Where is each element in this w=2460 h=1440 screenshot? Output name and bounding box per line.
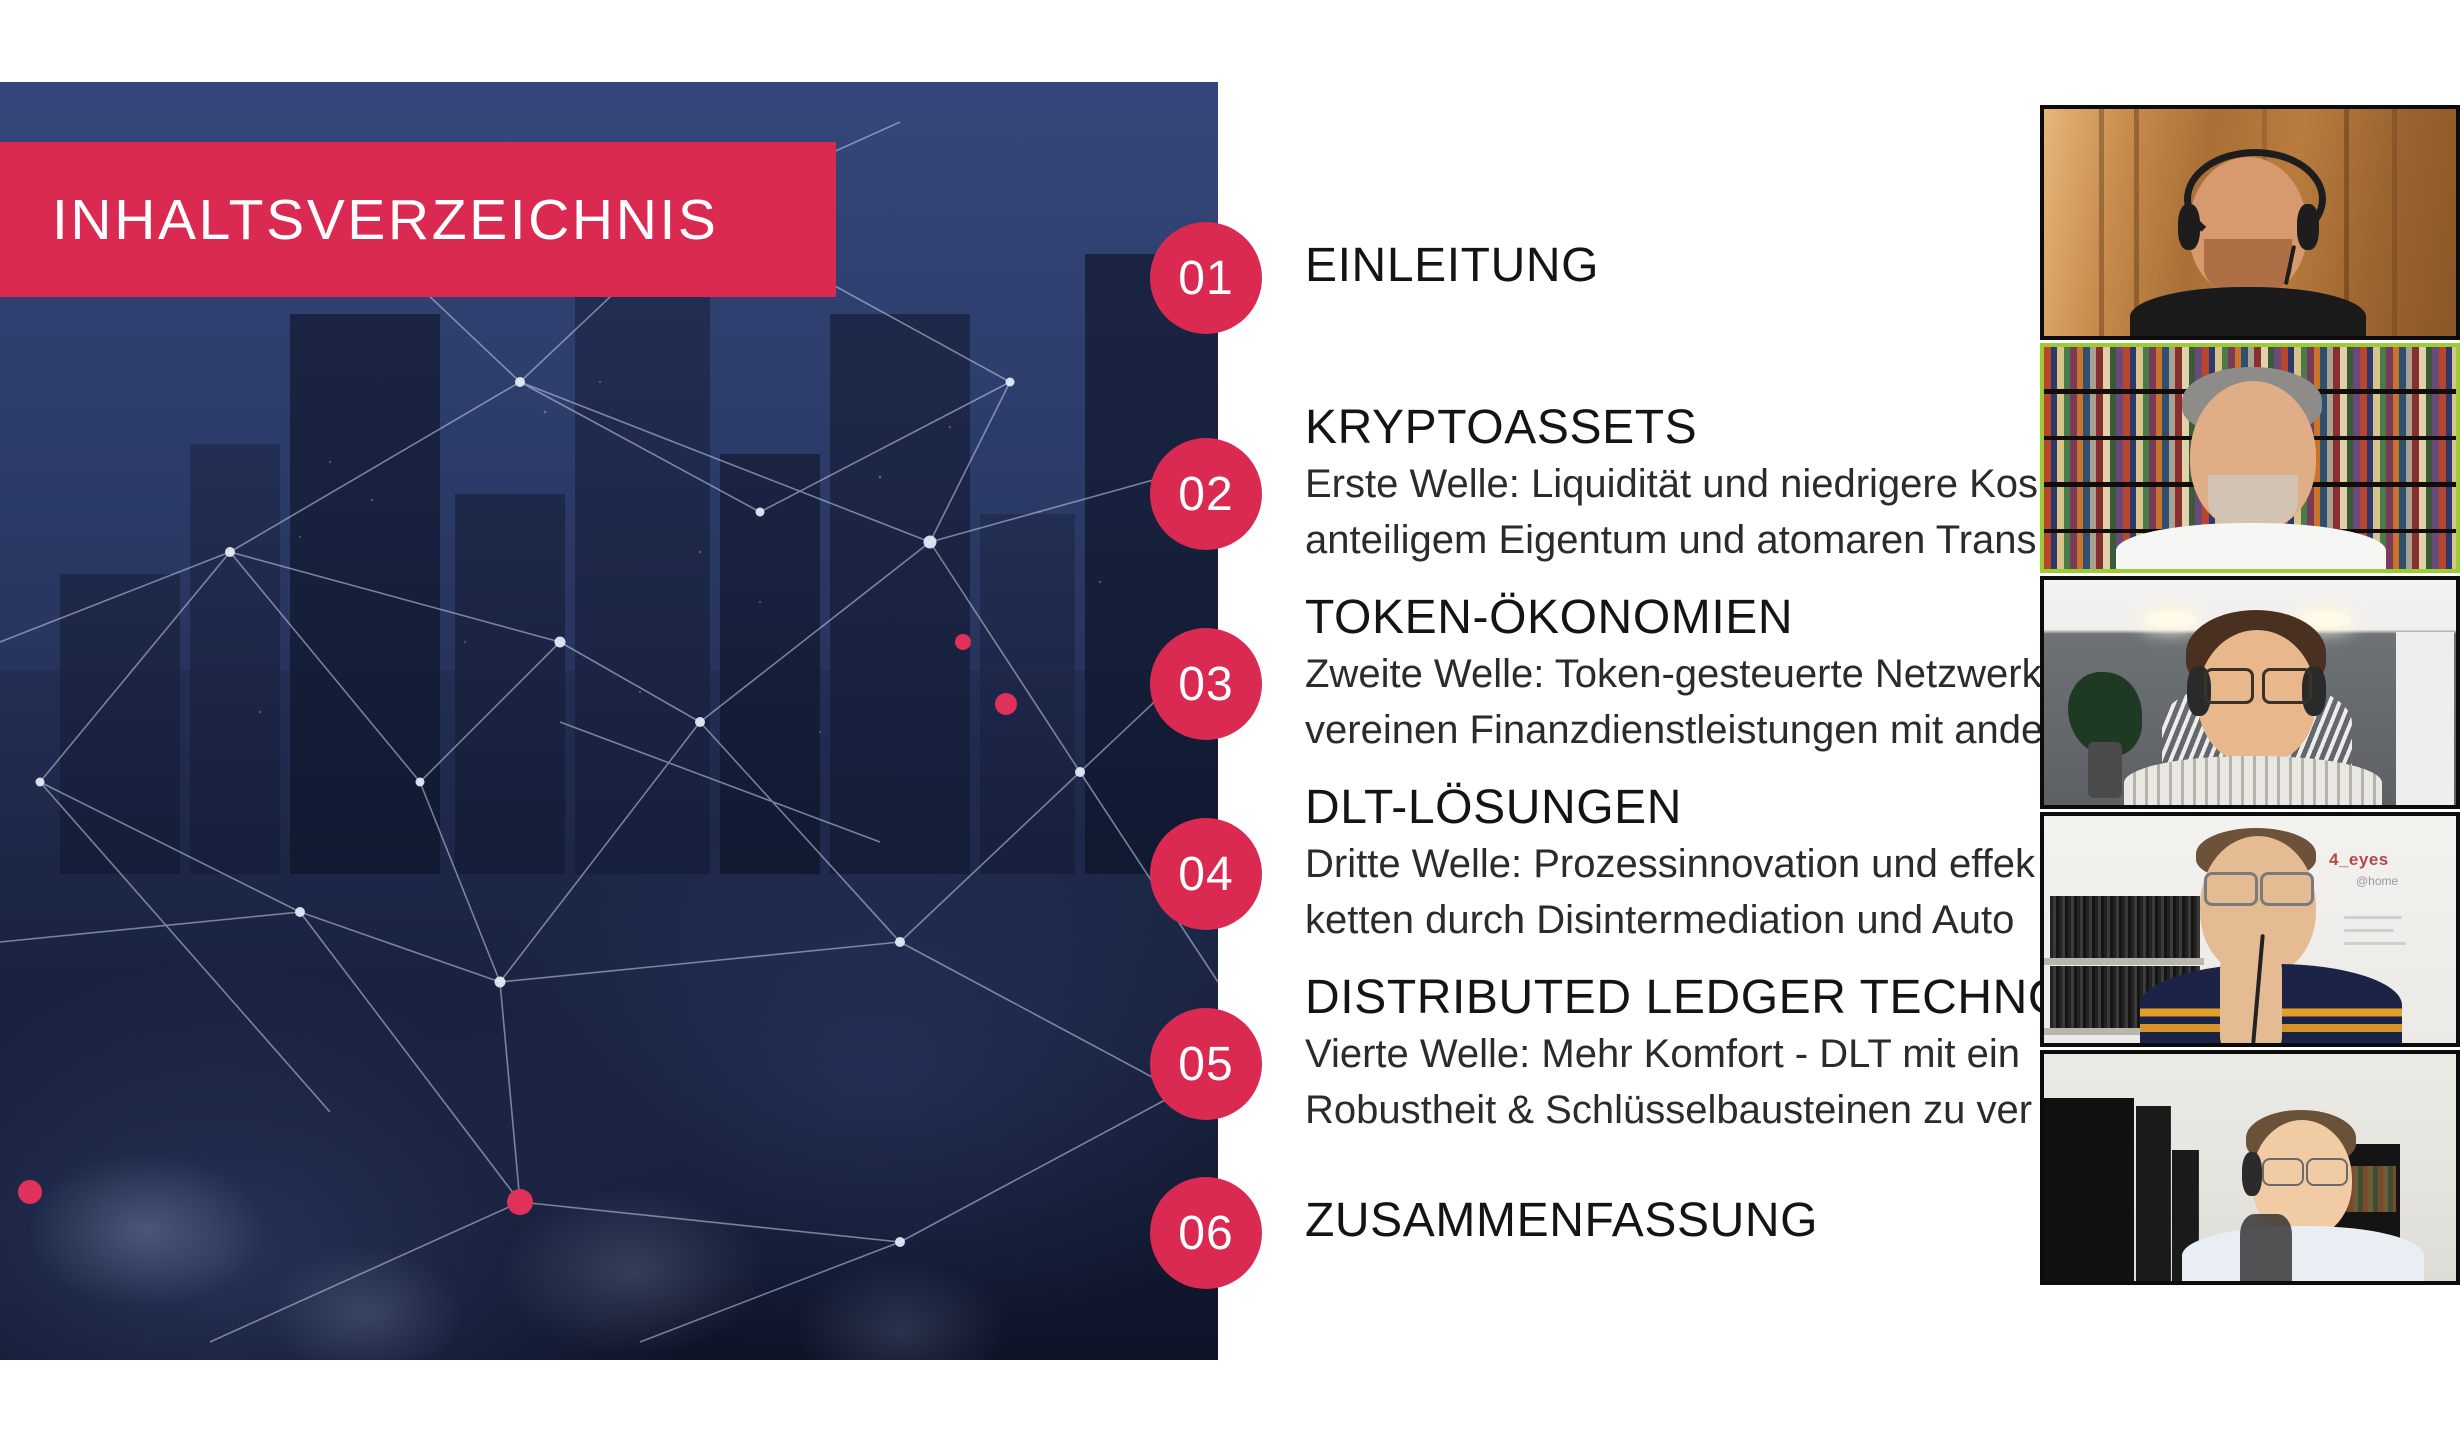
hero-image: INHALTSVERZEICHNIS — [0, 82, 1218, 1360]
agenda-number-badge: 01 — [1150, 222, 1262, 334]
agenda-number-badge: 02 — [1150, 438, 1262, 550]
video-tile-participant-3[interactable] — [2040, 576, 2460, 809]
video-frame: 4_eyes @home — [2044, 816, 2456, 1043]
video-frame — [2044, 580, 2456, 805]
video-frame — [2044, 347, 2456, 569]
agenda-number-badge: 05 — [1150, 1008, 1262, 1120]
whiteboard-title: 4_eyes — [2329, 850, 2389, 870]
video-tile-participant-5[interactable] — [2040, 1050, 2460, 1285]
presentation-screen-share: INHALTSVERZEICHNIS 01 EINLEITUNG 02 KRYP… — [0, 0, 2460, 1440]
video-tile-participant-2[interactable] — [2040, 343, 2460, 573]
page-title: INHALTSVERZEICHNIS — [52, 187, 719, 253]
agenda-number-badge: 04 — [1150, 818, 1262, 930]
whiteboard-subtitle: @home — [2356, 874, 2398, 888]
slide-title-banner: INHALTSVERZEICHNIS — [0, 142, 836, 297]
video-tile-participant-1[interactable] — [2040, 105, 2460, 340]
video-tile-participant-4[interactable]: 4_eyes @home — [2040, 812, 2460, 1047]
agenda-number-badge: 03 — [1150, 628, 1262, 740]
shirt-plaid — [2124, 756, 2382, 805]
video-frame — [2044, 109, 2456, 336]
video-frame — [2044, 1054, 2456, 1281]
agenda-number-badge: 06 — [1150, 1177, 1262, 1289]
video-participant-strip: 4_eyes @home — [2040, 105, 2460, 1315]
